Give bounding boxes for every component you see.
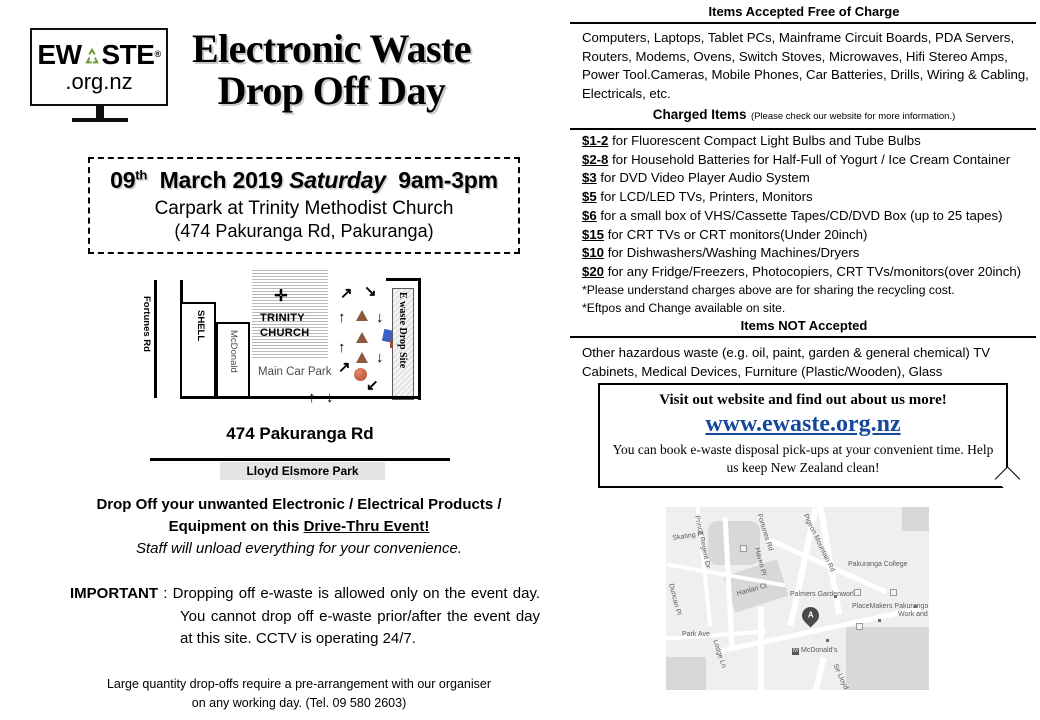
- park-boundary-line: [150, 458, 450, 461]
- church-line-2: CHURCH: [260, 326, 328, 341]
- flow-arrow-ne-2: ↗: [338, 360, 351, 375]
- page-title: Electronic Waste Drop Off Day: [192, 28, 471, 113]
- charged-note-2: *Eftpos and Change available on site.: [582, 300, 1032, 318]
- flow-arrow-up-2: ↑: [338, 340, 346, 355]
- important-notice: IMPORTANT : Dropping off e-waste is allo…: [70, 583, 540, 651]
- map-road: [758, 607, 764, 690]
- map-block: [708, 521, 760, 565]
- drive-thru-emphasis: Drive-Thru Event!: [304, 518, 430, 535]
- charged-note-1: *Please understand charges above are for…: [582, 282, 1032, 300]
- price-desc: for any Fridge/Freezers, Photocopiers, C…: [608, 264, 1021, 279]
- traffic-cone-3: [356, 352, 368, 363]
- left-column: EW STE ® .org.nz: [0, 0, 565, 720]
- price-desc: for Fluorescent Compact Light Bulbs and …: [612, 133, 921, 148]
- marker-ball: [354, 368, 367, 381]
- ewaste-logo: EW STE ® .org.nz: [30, 28, 170, 122]
- price-amount: $1-2: [582, 133, 608, 148]
- mcdonalds-icon: M: [792, 648, 799, 655]
- church-line-1: TRINITY: [260, 311, 328, 326]
- traffic-cone-1: [356, 310, 368, 321]
- map-label-palmers: Palmers Gardenworld: [790, 591, 836, 599]
- website-callout-line-1: Visit out website and find out about us …: [606, 392, 1000, 409]
- recycle-icon: [81, 44, 103, 66]
- flow-arrow-se-1: ↘: [364, 284, 377, 299]
- monitor-neck: [96, 106, 104, 118]
- event-month-year: March 2019: [160, 167, 283, 193]
- flyer-page: EW STE ® .org.nz: [0, 0, 1040, 720]
- map-label-placemakers: PlaceMakers Pakuranga: [852, 603, 900, 611]
- large-quantity-note: Large quantity drop-offs require a pre-a…: [64, 675, 534, 713]
- website-callout-box[interactable]: Visit out website and find out about us …: [598, 383, 1008, 488]
- price-row: $15 for CRT TVs or CRT monitors(Under 20…: [582, 226, 1032, 245]
- map-block: [666, 657, 706, 690]
- charged-heading-note: (Please check our website for more infor…: [751, 111, 955, 122]
- price-row: $10 for Dishwashers/Washing Machines/Dry…: [582, 244, 1032, 263]
- accepted-body: Computers, Laptops, Tablet PCs, Mainfram…: [568, 24, 1040, 104]
- flow-arrow-ne-1: ↗: [340, 286, 353, 301]
- drop-site-label: E waste Drop Site: [397, 292, 408, 368]
- flow-arrow-down-1: ↓: [376, 310, 384, 325]
- event-address: (474 Pakuranga Rd, Pakuranga): [96, 221, 512, 242]
- price-amount: $2-8: [582, 152, 608, 167]
- flow-arrow-sw-1: ↙: [366, 378, 379, 393]
- monitor-base: [72, 118, 128, 122]
- dropoff-line-2: Staff will unload everything for your co…: [64, 540, 534, 557]
- price-desc: for CRT TVs or CRT monitors(Under 20inch…: [608, 227, 868, 242]
- large-qty-line-1: Large quantity drop-offs require a pre-a…: [64, 675, 534, 694]
- map-block: [902, 507, 929, 531]
- map-block: [846, 627, 929, 690]
- website-callout-line-3: You can book e-waste disposal pick-ups a…: [606, 441, 1000, 477]
- shell-label: SHELL: [195, 310, 206, 341]
- title-line-1: Electronic Waste: [192, 26, 471, 71]
- price-row: $3 for DVD Video Player Audio System: [582, 169, 1032, 188]
- event-date-line: 09th March 2019 Saturday 9am-3pm: [96, 167, 512, 194]
- price-amount: $15: [582, 227, 604, 242]
- dropoff-line-1b: Equipment on this: [169, 518, 304, 535]
- large-qty-line-2: on any working day. (Tel. 09 580 2603): [64, 694, 534, 713]
- pakuranga-rd-line: [180, 396, 421, 399]
- important-label: IMPORTANT: [70, 585, 158, 602]
- map-label-lodge-ln: Lodge Ln: [710, 639, 727, 669]
- logo-text-ste: STE: [102, 41, 155, 69]
- ewaste-drop-site-zone: E waste Drop Site: [392, 288, 414, 400]
- lloyd-elsmore-park-label: Lloyd Elsmore Park: [220, 462, 385, 480]
- charged-heading: Charged Items: [653, 107, 747, 122]
- charged-items-list: $1-2 for Fluorescent Compact Light Bulbs…: [568, 130, 1040, 317]
- fortunes-rd-line: [154, 280, 157, 398]
- site-schematic-map: Fortunes Rd SHELL McDonald ✛ TRINITY CHU…: [140, 262, 460, 477]
- price-row: $2-8 for Household Batteries for Half-Fu…: [582, 151, 1032, 170]
- logo-domain: .org.nz: [65, 70, 132, 93]
- mcdonald-label: McDonald: [228, 330, 239, 373]
- monitor-icon: EW STE ® .org.nz: [30, 28, 168, 106]
- right-column: Items Accepted Free of Charge Computers,…: [568, 0, 1040, 720]
- price-amount: $6: [582, 208, 597, 223]
- logo-trademark: ®: [154, 50, 160, 59]
- price-desc: for LCD/LED TVs, Printers, Monitors: [600, 189, 812, 204]
- website-url-link[interactable]: www.ewaste.org.nz: [606, 411, 1000, 438]
- logo-wordmark: EW STE ®: [37, 41, 160, 69]
- price-row: $1-2 for Fluorescent Compact Light Bulbs…: [582, 132, 1032, 151]
- price-row: $5 for LCD/LED TVs, Printers, Monitors: [582, 188, 1032, 207]
- flow-arrow-down-2: ↓: [376, 350, 384, 365]
- event-weekday: Saturday: [289, 167, 386, 193]
- fortunes-rd-label: Fortunes Rd: [141, 296, 152, 352]
- dropsite-right-edge: [418, 278, 421, 400]
- map-label-park-ave: Park Ave: [682, 631, 710, 639]
- map-location-pin[interactable]: A: [798, 603, 822, 627]
- map-road: [811, 657, 826, 690]
- dropoff-instructions: Drop Off your unwanted Electronic / Elec…: [64, 494, 534, 557]
- logo-text-ew: EW: [37, 41, 81, 69]
- event-day: 09: [110, 167, 135, 193]
- price-desc: for Dishwashers/Washing Machines/Dryers: [608, 245, 860, 260]
- traffic-cone-2: [356, 332, 368, 343]
- flyer-header: EW STE ® .org.nz: [30, 28, 471, 122]
- map-dot: [914, 605, 917, 608]
- map-poi-mcdonalds: M McDonald's: [792, 647, 837, 655]
- not-accepted-body: Other hazardous waste (e.g. oil, paint, …: [568, 338, 1040, 381]
- map-label-pakuranga-college: Pakuranga College: [848, 561, 894, 569]
- main-car-park-label: Main Car Park: [258, 366, 332, 378]
- price-amount: $20: [582, 264, 604, 279]
- map-icon: [856, 623, 863, 630]
- accepted-heading: Items Accepted Free of Charge: [568, 0, 1040, 22]
- not-accepted-heading: Items NOT Accepted: [568, 317, 1040, 336]
- map-dot: [826, 639, 829, 642]
- map-dot: [878, 619, 881, 622]
- event-details-box: 09th March 2019 Saturday 9am-3pm Carpark…: [88, 157, 520, 254]
- event-day-suffix: th: [135, 167, 147, 182]
- event-time: 9am-3pm: [398, 167, 498, 193]
- price-row: $20 for any Fridge/Freezers, Photocopier…: [582, 263, 1032, 282]
- map-pin-label: A: [808, 611, 814, 620]
- map-dot: [834, 595, 837, 598]
- price-desc: for a small box of VHS/Cassette Tapes/CD…: [600, 208, 1002, 223]
- price-row: $6 for a small box of VHS/Cassette Tapes…: [582, 207, 1032, 226]
- price-amount: $3: [582, 170, 597, 185]
- dropsite-top-edge: [386, 278, 421, 281]
- map-label-work-income: Work and Income: [898, 611, 929, 619]
- price-amount: $10: [582, 245, 604, 260]
- cross-icon: ✛: [274, 289, 287, 305]
- location-map-image[interactable]: Skating Pl Prince Regent Dr Fortunes Rd …: [666, 507, 929, 690]
- map-label-duncan-pl: Duncan Pl: [666, 583, 682, 616]
- title-line-2: Drop Off Day: [192, 70, 471, 112]
- price-amount: $5: [582, 189, 597, 204]
- map-icon: [740, 545, 747, 552]
- map-icon: [854, 589, 861, 596]
- important-text: : Dropping off e-waste is allowed only o…: [163, 585, 540, 647]
- map-icon: [890, 589, 897, 596]
- map-label-mcdonalds: McDonald's: [801, 647, 837, 655]
- trinity-church-block: ✛ TRINITY CHURCH: [252, 270, 328, 360]
- schematic-road-label: 474 Pakuranga Rd: [140, 424, 460, 444]
- flow-arrow-up-1: ↑: [338, 310, 346, 325]
- charged-heading-row: Charged Items (Please check our website …: [568, 104, 1040, 124]
- dropoff-line-1a: Drop Off your unwanted Electronic / Elec…: [96, 496, 501, 513]
- price-desc: for Household Batteries for Half-Full of…: [612, 152, 1010, 167]
- event-venue: Carpark at Trinity Methodist Church: [96, 198, 512, 220]
- price-desc: for DVD Video Player Audio System: [600, 170, 809, 185]
